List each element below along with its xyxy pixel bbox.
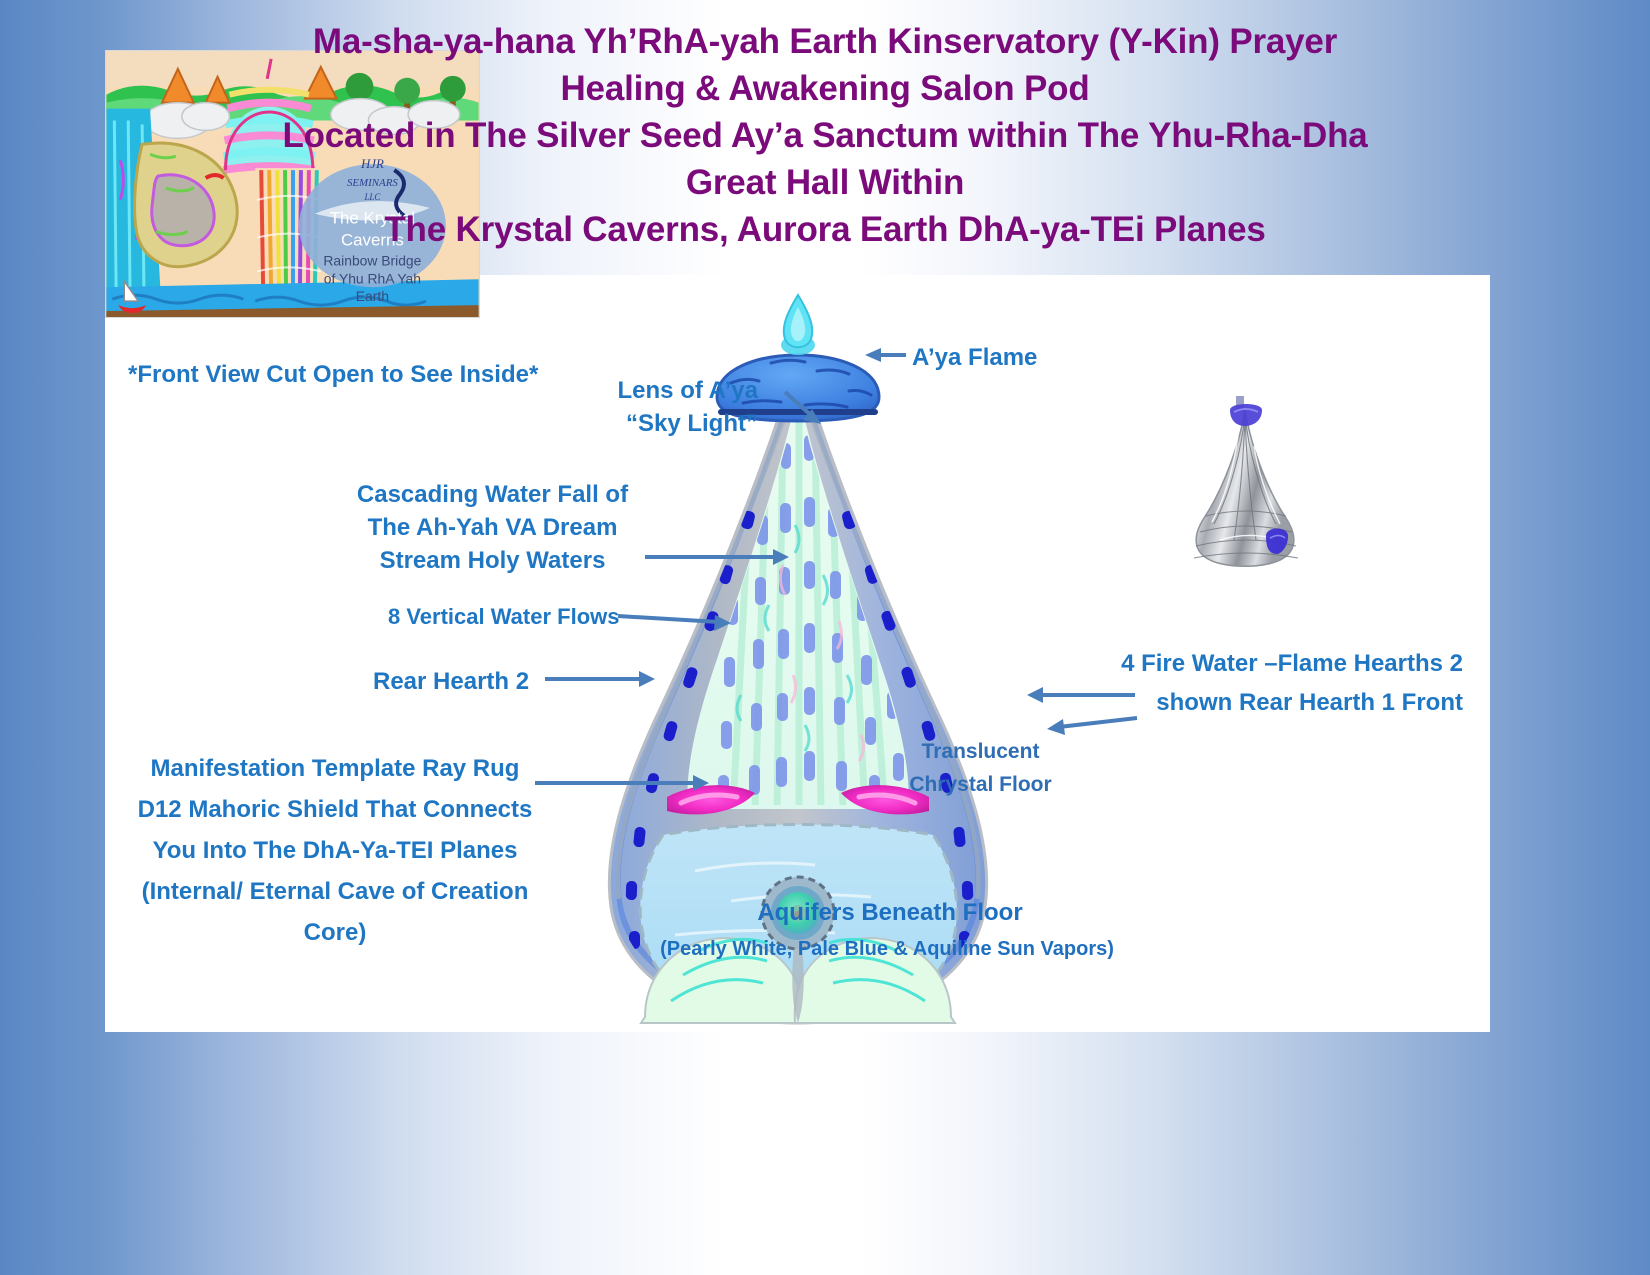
svg-text:Caverns: Caverns <box>341 231 404 250</box>
manifest-line-3: You Into The DhA-Ya-TEI Planes <box>125 830 545 871</box>
label-aya-flame: A’ya Flame <box>912 341 1037 374</box>
label-fire-water-hearths: 4 Fire Water –Flame Hearths 2 shown Rear… <box>1113 645 1463 723</box>
label-manifestation-template: Manifestation Template Ray Rug D12 Mahor… <box>125 748 545 953</box>
front-view-note: *Front View Cut Open to See Inside* <box>128 358 538 391</box>
label-aquifers-beneath-floor: Aquifers Beneath Floor <box>755 896 1025 929</box>
krystal-caverns-thumbnail: HJR SEMINARS LLC The Krystal Caverns Rai… <box>105 50 480 318</box>
arrow-aya-flame <box>865 348 906 362</box>
manifest-line-4: (Internal/ Eternal Cave of Creation <box>125 871 545 912</box>
svg-text:LLC: LLC <box>363 192 381 202</box>
manifest-line-2: D12 Mahoric Shield That Connects <box>125 789 545 830</box>
label-rear-hearth-2: Rear Hearth 2 <box>373 665 529 698</box>
svg-text:Earth: Earth <box>356 288 389 304</box>
hearths-line-1: 4 Fire Water –Flame Hearths 2 <box>1113 645 1463 684</box>
label-cascading-waterfall: Cascading Water Fall of The Ah-Yah VA Dr… <box>350 478 635 577</box>
manifest-line-1: Manifestation Template Ray Rug <box>125 748 545 789</box>
label-aquifers-detail: (Pearly White, Pale Blue & Aquiline Sun … <box>652 936 1122 964</box>
svg-text:of Yhu RhA Yah: of Yhu RhA Yah <box>324 270 421 286</box>
svg-text:Rainbow Bridge: Rainbow Bridge <box>323 252 421 268</box>
label-vertical-water-flows: 8 Vertical Water Flows <box>388 602 620 632</box>
arrow-rear-hearth-2 <box>545 671 655 687</box>
svg-text:The Krystal: The Krystal <box>330 209 415 228</box>
translucent-line-1: Translucent <box>898 736 1063 769</box>
label-lens-of-aya: Lens of A’ya “Sky Light” <box>608 374 758 440</box>
label-translucent-chrystal-floor: Translucent Chrystal Floor <box>898 736 1063 801</box>
cascade-line-3: Stream Holy Waters <box>350 544 635 577</box>
svg-text:SEMINARS: SEMINARS <box>347 177 398 189</box>
silver-seed-foil-kiss <box>1150 390 1340 575</box>
manifest-line-5: Core) <box>125 912 545 953</box>
hearths-line-2: shown Rear Hearth 1 Front <box>1113 684 1463 723</box>
svg-text:HJR: HJR <box>360 157 384 171</box>
lens-line-2: “Sky Light” <box>608 407 758 440</box>
cascade-line-2: The Ah-Yah VA Dream <box>350 511 635 544</box>
aya-flame <box>781 295 815 355</box>
cascade-line-1: Cascading Water Fall of <box>350 478 635 511</box>
lens-line-1: Lens of A’ya <box>608 374 758 407</box>
translucent-line-2: Chrystal Floor <box>898 769 1063 802</box>
